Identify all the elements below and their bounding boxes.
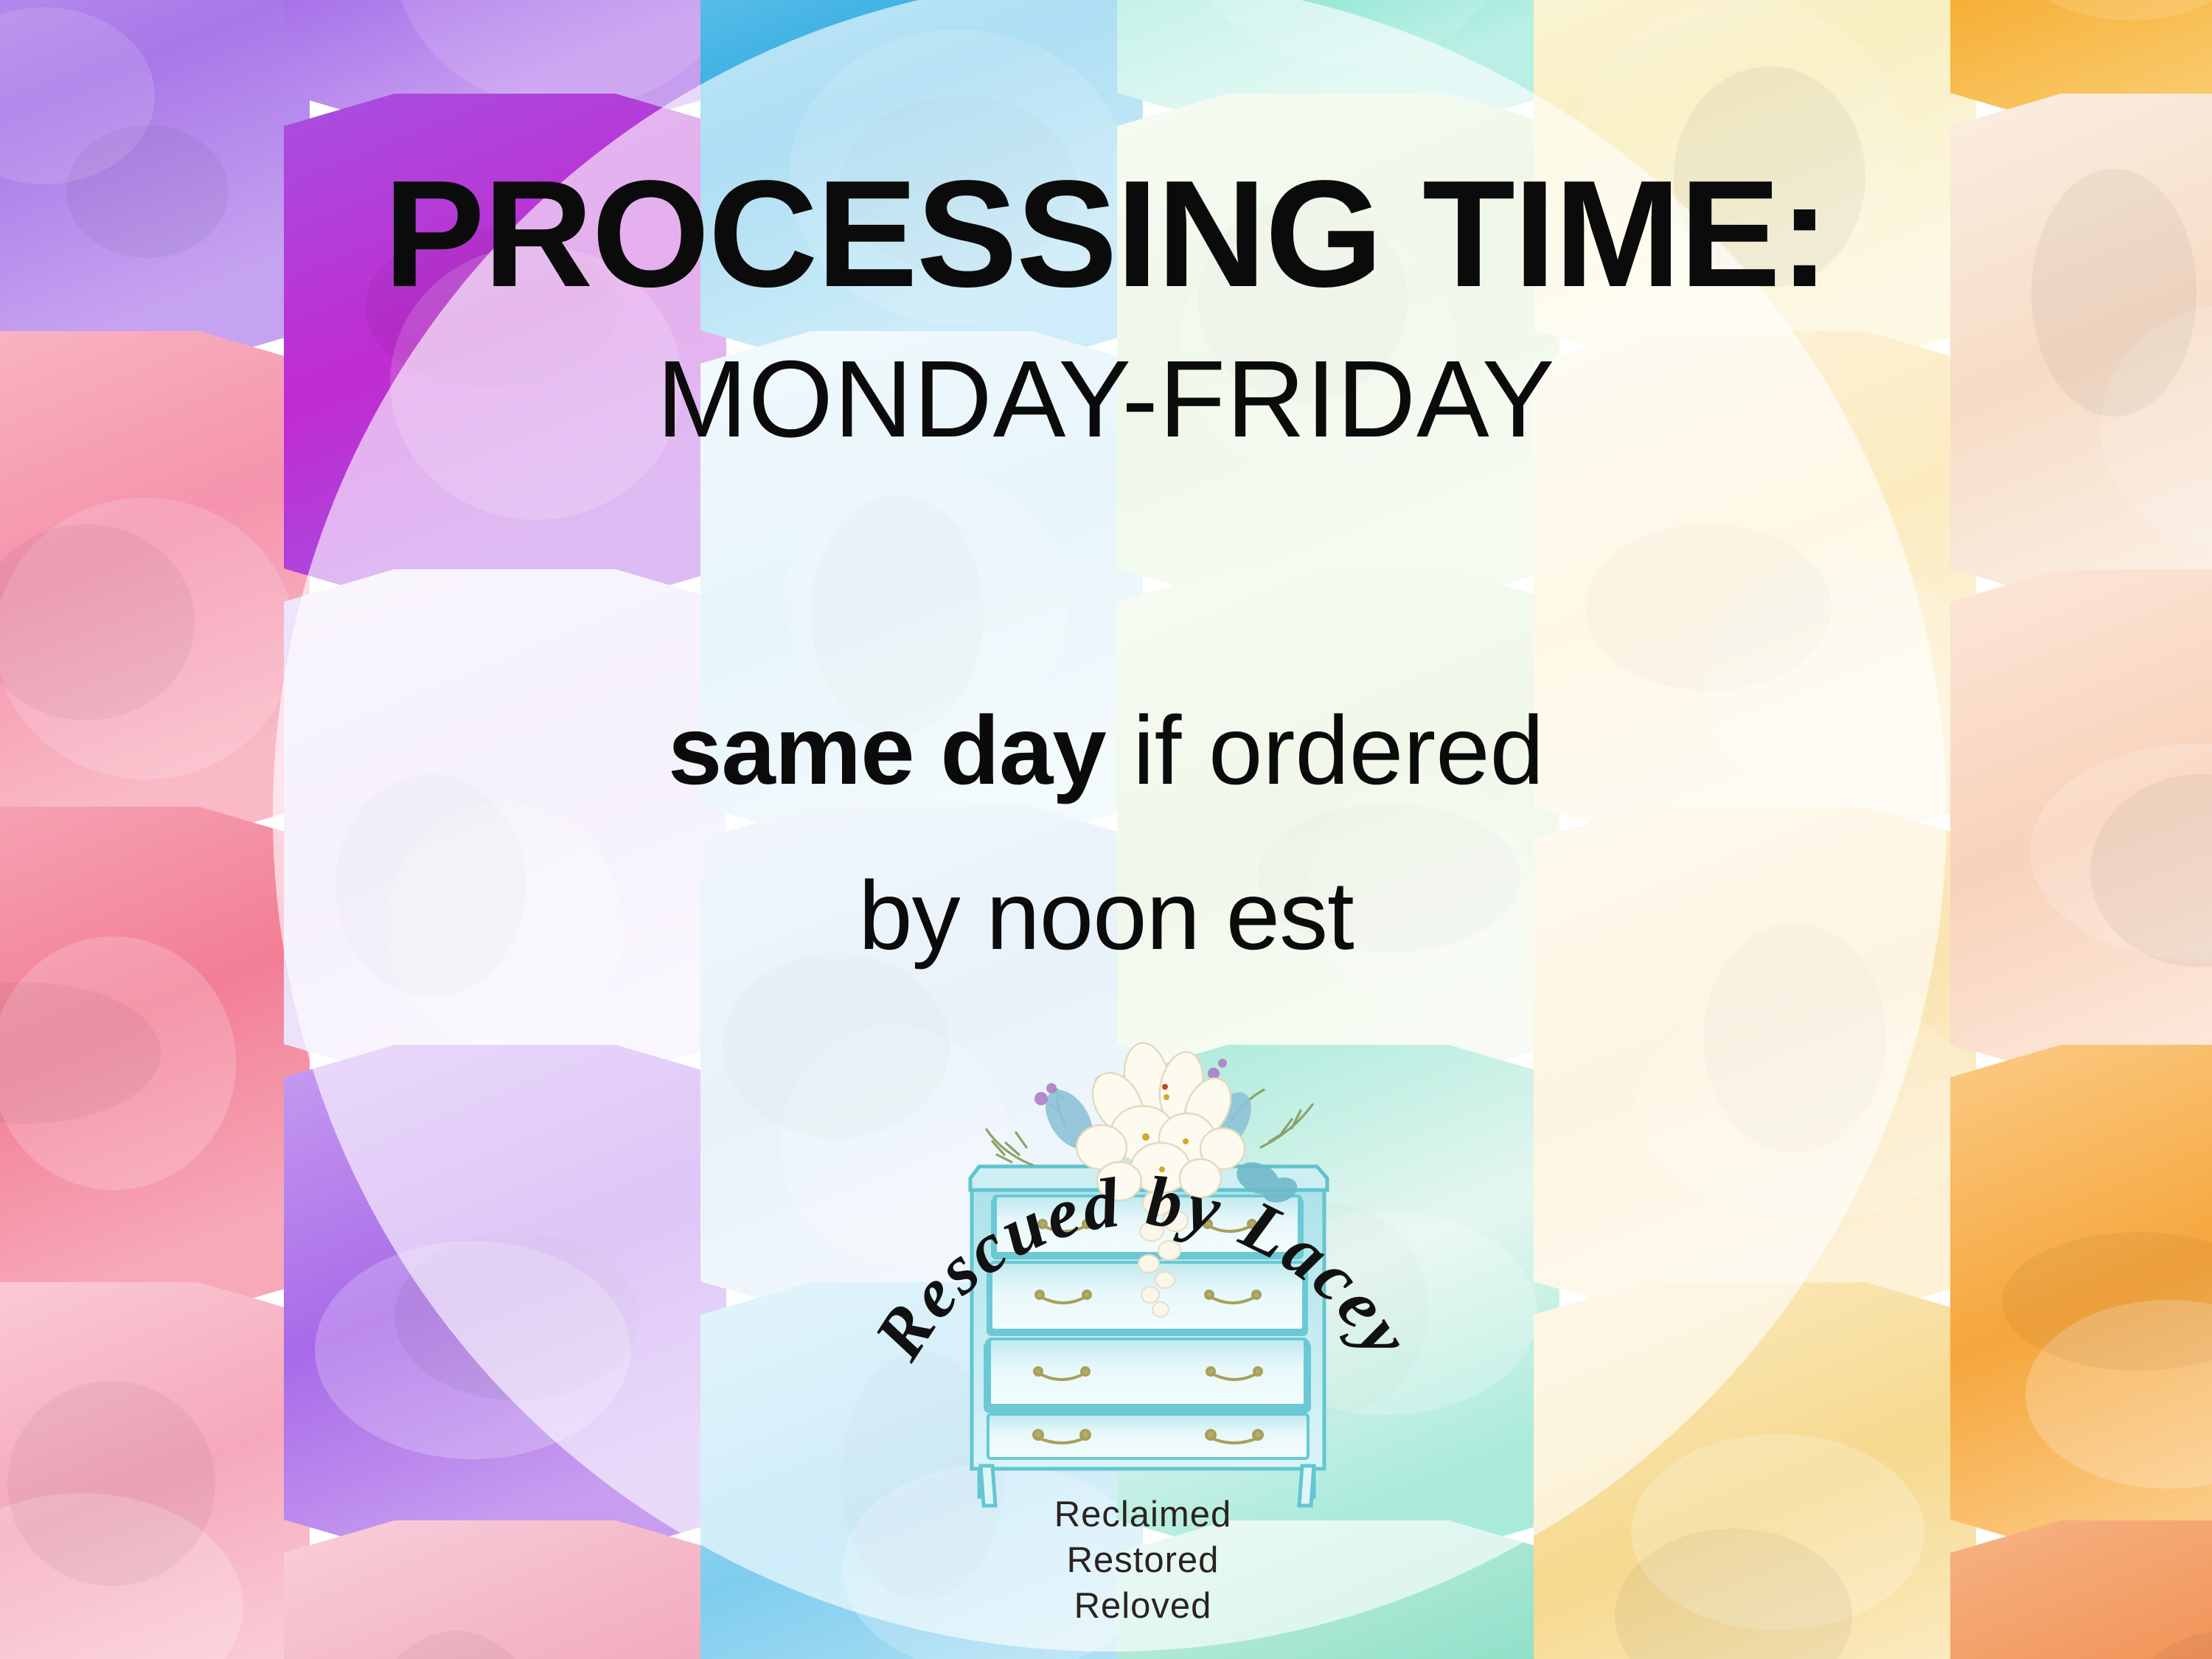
poster-canvas: PROCESSING TIME: MONDAY-FRIDAY same day … — [0, 0, 2212, 1659]
tagline-line-1: Reclaimed — [848, 1497, 1438, 1533]
promise-rest: if ordered — [1106, 696, 1544, 804]
promise-line-2: by noon est — [0, 867, 2212, 964]
brand-logo: Rescued by Lacey Reclaimed Restored Relo… — [848, 1010, 1438, 1615]
tagline-line-3: Reloved — [848, 1588, 1438, 1624]
page-title: PROCESSING TIME: — [0, 158, 2212, 310]
promise-emphasis: same day — [668, 696, 1106, 804]
tagline-line-2: Restored — [848, 1543, 1438, 1579]
promise-line-1: same day if ordered — [0, 702, 2212, 799]
page-subtitle: MONDAY-FRIDAY — [0, 345, 2212, 454]
